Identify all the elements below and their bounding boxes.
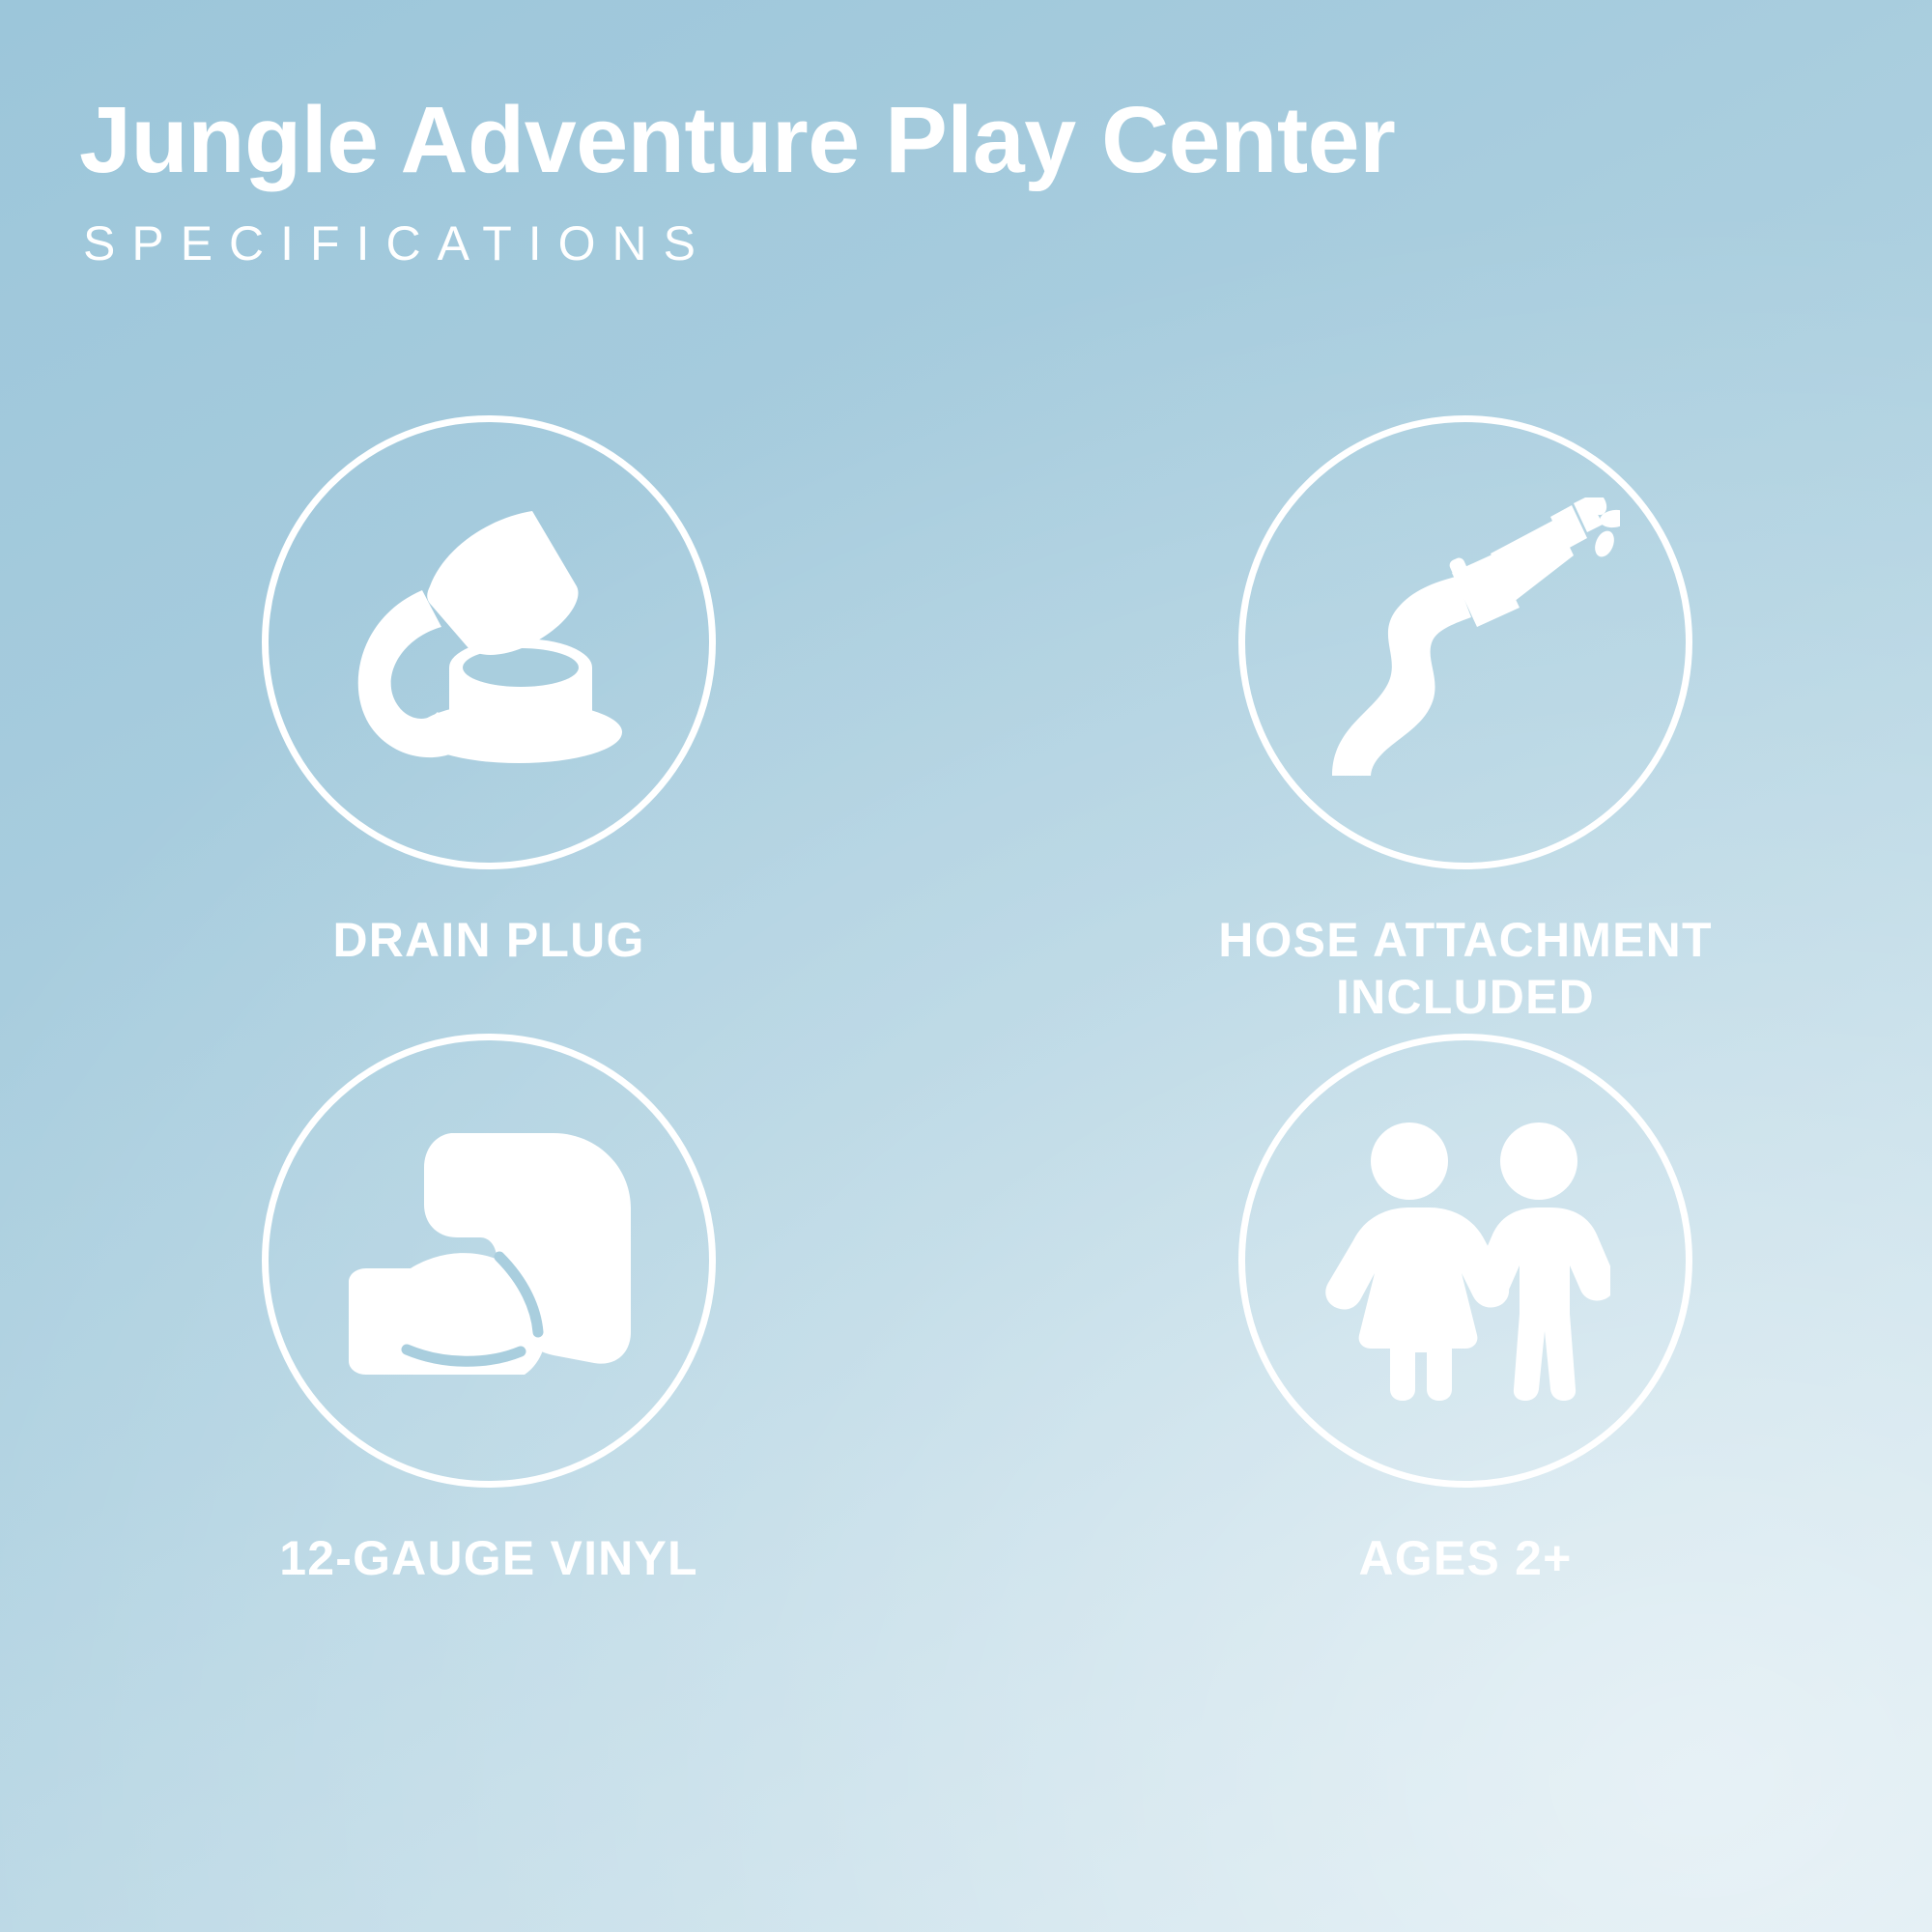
spec-item-vinyl-gauge: 12-GAUGE VINYL: [0, 1034, 966, 1652]
spec-sheet-page: Jungle Adventure Play Center SPECIFICATI…: [0, 0, 1932, 1932]
spec-item-drain-plug: DRAIN PLUG: [0, 415, 966, 1034]
page-title: Jungle Adventure Play Center: [79, 93, 1857, 186]
specs-grid: DRAIN PLUG: [0, 415, 1932, 1652]
spec-item-age-rating: AGES 2+: [966, 1034, 1932, 1652]
two-children-icon: [1321, 1121, 1610, 1401]
hose-nozzle-icon: [1311, 497, 1620, 787]
spec-icon-badge: [262, 1034, 716, 1488]
drain-plug-icon: [329, 497, 648, 787]
spec-label: AGES 2+: [1359, 1530, 1573, 1587]
spec-label: DRAIN PLUG: [332, 912, 644, 969]
spec-icon-badge: [1238, 415, 1692, 869]
page-subtitle: SPECIFICATIONS: [83, 219, 1857, 268]
header: Jungle Adventure Play Center SPECIFICATI…: [79, 93, 1857, 268]
spec-item-hose-attachment: HOSE ATTACHMENT INCLUDED: [966, 415, 1932, 1034]
spec-label: 12-GAUGE VINYL: [279, 1530, 698, 1587]
spec-icon-badge: [262, 415, 716, 869]
spec-label: HOSE ATTACHMENT INCLUDED: [1218, 912, 1712, 1025]
spec-icon-badge: [1238, 1034, 1692, 1488]
flexed-bicep-icon: [335, 1116, 642, 1406]
